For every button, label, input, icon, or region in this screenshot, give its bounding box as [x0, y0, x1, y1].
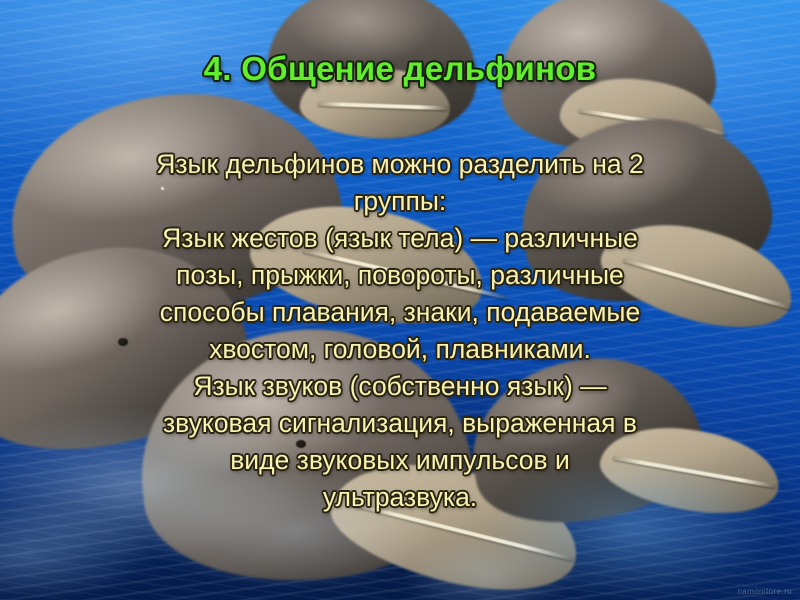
slide-body: Язык дельфинов можно разделить на 2 груп… — [60, 146, 740, 516]
body-line: виде звуковых импульсов и — [60, 442, 740, 479]
slide-content: 4. Общение дельфинов Язык дельфинов можн… — [0, 0, 800, 600]
body-line: хвостом, головой, плавниками. — [60, 331, 740, 368]
body-line: Язык жестов (язык тела) — различные — [60, 220, 740, 257]
body-line: способы плавания, знаки, подаваемые — [60, 294, 740, 331]
body-line: группы: — [60, 183, 740, 220]
body-line: позы, прыжки, повороты, различные — [60, 257, 740, 294]
body-line: звуковая сигнализация, выраженная в — [60, 405, 740, 442]
body-line: ультразвука. — [60, 479, 740, 516]
slide-title: 4. Общение дельфинов — [0, 50, 800, 88]
source-watermark: namonitore.ru — [737, 587, 792, 596]
presentation-slide: 4. Общение дельфинов Язык дельфинов можн… — [0, 0, 800, 600]
body-line: Язык дельфинов можно разделить на 2 — [60, 146, 740, 183]
body-line: Язык звуков (собственно язык) — — [60, 368, 740, 405]
